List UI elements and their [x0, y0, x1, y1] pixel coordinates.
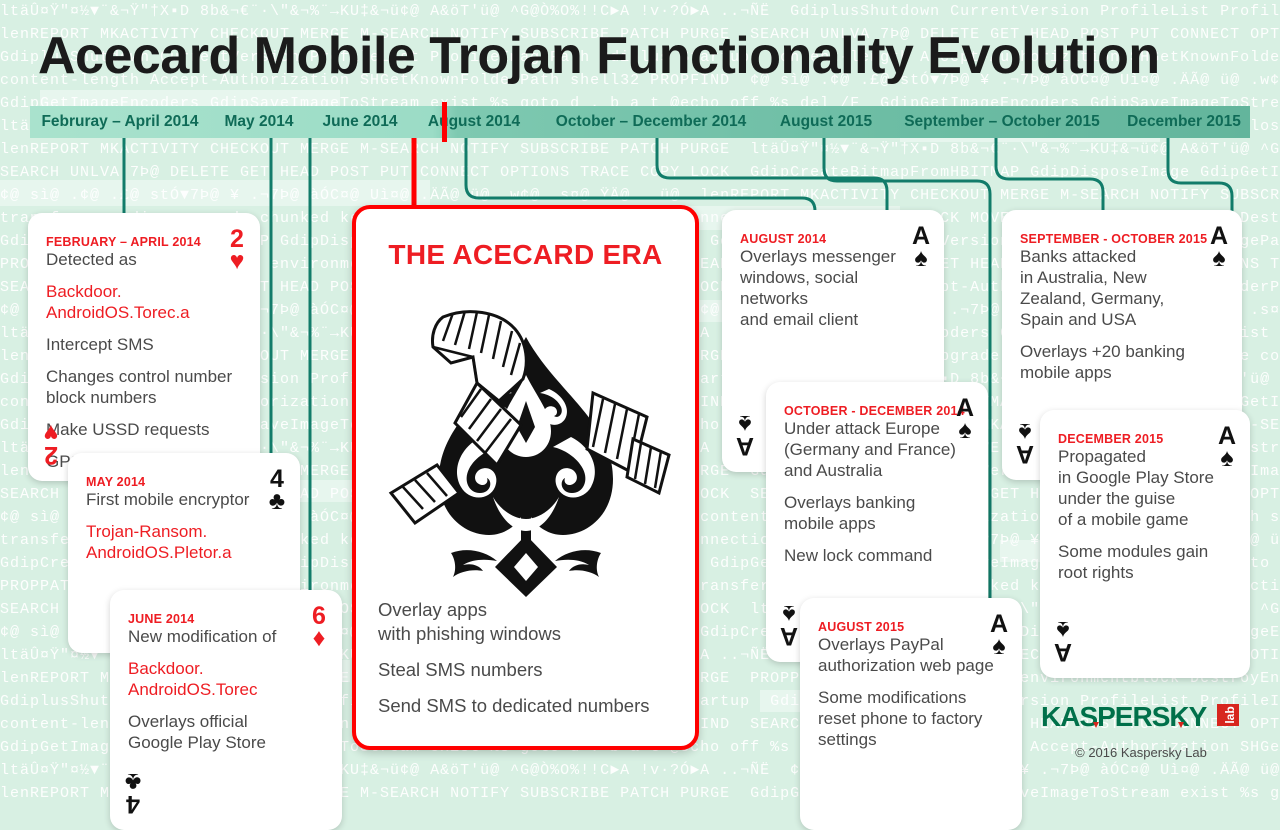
- card-body: New modification ofBackdoor. AndroidOS.T…: [128, 626, 324, 753]
- card-heading: JUNE 2014: [128, 612, 324, 626]
- spades-suit-icon: ♠: [1202, 246, 1236, 271]
- card-body: Propagated in Google Play Store under th…: [1058, 446, 1232, 583]
- kaspersky-logo-text: KASPERSKY: [1041, 701, 1208, 732]
- card-heading: MAY 2014: [86, 475, 282, 489]
- card-heading: OCTOBER - DECEMBER 2014: [784, 404, 970, 418]
- card-body-line: Make USSD requests: [46, 419, 242, 440]
- card-heading: DECEMBER 2015: [1058, 432, 1232, 446]
- hero-title: THE ACECARD ERA: [356, 239, 695, 271]
- card-corner-top-right: A ♠: [1202, 224, 1236, 271]
- card-august-2015[interactable]: A ♠ AUGUST 2015 Overlays PayPal authoriz…: [800, 598, 1022, 830]
- card-body-line: Under attack Europe (Germany and France)…: [784, 418, 970, 481]
- spades-suit-icon: ♠: [1210, 446, 1244, 471]
- card-body: Detected asBackdoor. AndroidOS.Torec.aIn…: [46, 249, 242, 472]
- card-corner-top-right: A ♠: [948, 396, 982, 443]
- card-body-line: Overlays banking mobile apps: [784, 492, 970, 534]
- hearts-suit-icon: ♥: [220, 249, 254, 274]
- spades-suit-icon: ♠: [1046, 617, 1080, 642]
- hearts-suit-icon: ♥: [34, 420, 68, 445]
- spades-suit-icon: ♠: [1008, 419, 1042, 444]
- card-corner-top-right: 2 ♥: [220, 227, 254, 274]
- card-corner-bottom-left: 4 ♣: [116, 769, 150, 816]
- logo-lab-text: lab: [1223, 706, 1237, 723]
- card-acecard-era[interactable]: THE ACECARD ERA: [352, 205, 699, 750]
- card-body-line: Overlay apps with phishing windows: [378, 598, 677, 646]
- card-body-line: Banks attacked in Australia, New Zealand…: [1020, 246, 1224, 330]
- card-body-line: New modification of: [128, 626, 324, 647]
- card-heading: FEBRUARY – APRIL 2014: [46, 235, 242, 249]
- card-corner-top-right: 4 ♣: [260, 467, 294, 514]
- card-body-line: Backdoor. AndroidOS.Torec.a: [46, 281, 242, 323]
- card-body-line: New lock command: [784, 545, 970, 566]
- diamonds-suit-icon: ♦: [302, 626, 336, 651]
- card-body-line: Some modules gain root rights: [1058, 541, 1232, 583]
- card-body-line: First mobile encryptor: [86, 489, 282, 510]
- card-body-line: Detected as: [46, 249, 242, 270]
- card-body: Banks attacked in Australia, New Zealand…: [1020, 246, 1224, 383]
- card-body-line: Changes control number block numbers: [46, 366, 242, 408]
- spades-suit-icon: ♠: [982, 634, 1016, 659]
- card-body-line: Steal SMS numbers: [378, 658, 677, 682]
- card-december-2015[interactable]: A ♠ A ♠ DECEMBER 2015 Propagated in Goog…: [1040, 410, 1250, 678]
- copyright-text: © 2016 Kaspersky Lab: [1036, 745, 1246, 760]
- card-heading: AUGUST 2015: [818, 620, 1004, 634]
- footer-logo-area: KASPERSKY lab © 2016 Kaspersky Lab: [1036, 700, 1246, 760]
- card-body: Under attack Europe (Germany and France)…: [784, 418, 970, 566]
- card-body-line: Overlays PayPal authorization web page: [818, 634, 1004, 676]
- card-body-line: Some modifications reset phone to factor…: [818, 687, 1004, 750]
- clubs-suit-icon: ♣: [116, 769, 150, 794]
- kaspersky-lab-logo: KASPERSKY lab: [1041, 700, 1241, 734]
- spades-suit-icon: ♠: [948, 418, 982, 443]
- card-corner-bottom-left: A ♠: [728, 411, 762, 458]
- card-body-line: Propagated in Google Play Store under th…: [1058, 446, 1232, 530]
- card-body-line: Overlays messenger windows, social netwo…: [740, 246, 926, 330]
- card-corner-top-right: A ♠: [1210, 424, 1244, 471]
- clubs-suit-icon: ♣: [260, 489, 294, 514]
- card-body: First mobile encryptorTrojan-Ransom. And…: [86, 489, 282, 563]
- card-corner-top-right: A ♠: [904, 224, 938, 271]
- card-body-line: Overlays official Google Play Store: [128, 711, 324, 753]
- spades-suit-icon: ♠: [728, 411, 762, 436]
- card-body-line: Trojan-Ransom. AndroidOS.Pletor.a: [86, 521, 282, 563]
- card-heading: AUGUST 2014: [740, 232, 926, 246]
- card-june-2014[interactable]: 6 ♦ 4 ♣ JUNE 2014 New modification ofBac…: [110, 590, 342, 830]
- card-body: Overlays messenger windows, social netwo…: [740, 246, 926, 330]
- spades-suit-icon: ♠: [904, 246, 938, 271]
- card-corner-bottom-left: 2 ♥: [34, 420, 68, 467]
- card-february-april-2014[interactable]: 2 ♥ 2 ♥ FEBRUARY – APRIL 2014 Detected a…: [28, 213, 260, 481]
- card-heading: SEPTEMBER - OCTOBER 2015: [1020, 232, 1224, 246]
- card-body-line: Intercept SMS: [46, 334, 242, 355]
- card-body: Overlays PayPal authorization web pageSo…: [818, 634, 1004, 750]
- card-corner-top-right: 6 ♦: [302, 604, 336, 651]
- card-corner-bottom-left: A ♠: [1008, 419, 1042, 466]
- card-corner-bottom-left: A ♠: [1046, 617, 1080, 664]
- card-body-line: Send SMS to dedicated numbers: [378, 694, 677, 718]
- trojan-horse-spade-illustration: [381, 297, 671, 597]
- card-corner-top-right: A ♠: [982, 612, 1016, 659]
- hero-body: Overlay apps with phishing windowsSteal …: [378, 598, 677, 718]
- card-body-line: Overlays +20 banking mobile apps: [1020, 341, 1224, 383]
- card-body-line: Backdoor. AndroidOS.Torec: [128, 658, 324, 700]
